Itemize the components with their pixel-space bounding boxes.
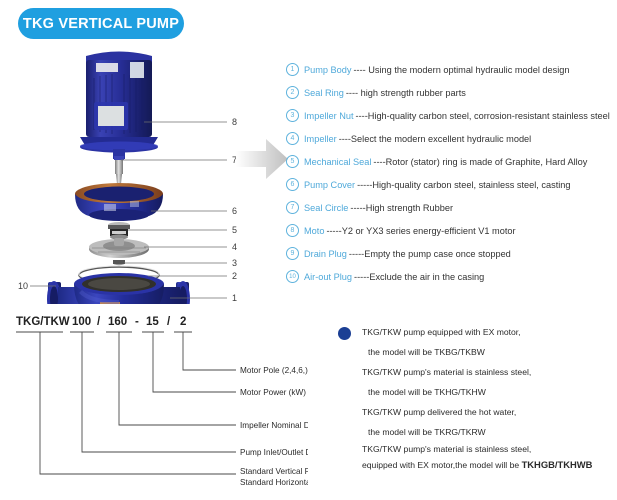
variant-line-4: the model will be TKHG/TKHW: [336, 382, 617, 402]
list-item: 2 Seal Ring ---- high strength rubber pa…: [286, 81, 617, 104]
list-number-4: 4: [286, 132, 299, 145]
variant-last-prefix: equipped with EX motor,the model will be: [362, 460, 522, 470]
model-token-7: 2: [180, 316, 186, 328]
mechanical-seal-part: [108, 222, 130, 240]
part-desc-4: ----Select the modern excellent hydrauli…: [339, 134, 532, 144]
svg-text:4: 4: [232, 242, 237, 252]
pump-cover-part: [75, 183, 163, 221]
part-name-9: Drain Plug: [304, 249, 347, 259]
part-name-2: Seal Ring: [304, 88, 344, 98]
part-desc-5: ----Rotor (stator) ring is made of Graph…: [373, 157, 587, 167]
svg-text:1: 1: [232, 293, 237, 303]
svg-text:10: 10: [18, 281, 28, 291]
variant-line-3: TKG/TKW pump's material is stainless ste…: [336, 362, 617, 382]
impeller-nut-part: [113, 260, 125, 265]
list-item: 7 Seal Circle -----High strength Rubber: [286, 196, 617, 219]
variant-line-5: TKG/TKW pump delivered the hot water,: [336, 402, 617, 422]
list-number-7: 7: [286, 201, 299, 214]
model-token-6: /: [167, 316, 171, 328]
motor-part: [80, 52, 158, 153]
variant-line-2: the model will be TKBG/TKBW: [336, 342, 617, 362]
variant-line-1: TKG/TKW pump equipped with EX motor,: [336, 322, 617, 342]
part-name-8: Moto: [304, 226, 324, 236]
list-item: 1 Pump Body ---- Using the modern optima…: [286, 58, 617, 81]
feature-list: 1 Pump Body ---- Using the modern optima…: [286, 58, 617, 288]
list-item: 5 Mechanical Seal ----Rotor (stator) rin…: [286, 150, 617, 173]
variant-line-6: the model will be TKRG/TKRW: [336, 422, 617, 442]
model-label-2: Impeller Nominal Diameter (mm): [240, 421, 308, 430]
svg-text:8: 8: [232, 117, 237, 127]
part-name-1: Pump Body: [304, 65, 352, 75]
part-desc-2: ---- high strength rubber parts: [346, 88, 466, 98]
model-token-4: -: [135, 316, 139, 328]
pump-body-part: [47, 273, 190, 304]
part-name-6: Pump Cover: [304, 180, 355, 190]
part-desc-3: ----High-quality carbon steel, corrosion…: [356, 111, 610, 121]
model-label-3: Pump Inlet/Outlet Diameter (mm): [240, 448, 308, 457]
svg-text:2: 2: [232, 271, 237, 281]
model-label-1: Motor Power (kW): [240, 388, 306, 397]
shaft-seal-circle-part: [113, 149, 125, 184]
model-leader-lines: [40, 332, 236, 474]
list-item: 3 Impeller Nut ----High-quality carbon s…: [286, 104, 617, 127]
list-number-6: 6: [286, 178, 299, 191]
variant-notes: TKG/TKW pump equipped with EX motor, the…: [336, 322, 617, 472]
variant-line-7: TKG/TKW pump's material is stainless ste…: [336, 442, 617, 457]
model-token-0: TKG/TKW: [16, 316, 70, 328]
model-code-tokens: TKG/TKW 100 / 160 - 15 / 2: [16, 316, 186, 328]
list-number-9: 9: [286, 247, 299, 260]
part-desc-6: -----High-quality carbon steel, stainles…: [357, 180, 570, 190]
model-label-0: Motor Pole (2,4,6,): [240, 366, 308, 375]
model-designation-diagram: TKG/TKW 100 / 160 - 15 / 2: [8, 312, 308, 492]
part-desc-8: -----Y2 or YX3 series energy-efficient V…: [326, 226, 515, 236]
svg-text:6: 6: [232, 206, 237, 216]
list-number-1: 1: [286, 63, 299, 76]
part-desc-9: -----Empty the pump case once stopped: [349, 249, 511, 259]
impeller-part: [89, 238, 149, 258]
svg-text:5: 5: [232, 225, 237, 235]
svg-text:3: 3: [232, 258, 237, 268]
list-number-5: 5: [286, 155, 299, 168]
page-title: TKG VERTICAL PUMP: [23, 16, 179, 32]
pump-exploded-diagram: 8 7 6 5 4 3 2 1 10 9: [18, 44, 258, 304]
part-name-4: Impeller: [304, 134, 337, 144]
variant-last-model: TKHGB/TKHWB: [522, 459, 593, 470]
list-item: 6 Pump Cover -----High-quality carbon st…: [286, 173, 617, 196]
page-title-banner: TKG VERTICAL PUMP: [18, 8, 184, 39]
model-token-3: 160: [108, 316, 127, 328]
list-item: 9 Drain Plug -----Empty the pump case on…: [286, 242, 617, 265]
model-label-5: Standard Horizontal Pump: [240, 478, 308, 487]
flow-arrow-icon: [236, 136, 288, 182]
model-token-1: 100: [72, 316, 91, 328]
part-name-5: Mechanical Seal: [304, 157, 371, 167]
variant-line-8: equipped with EX motor,the model will be…: [336, 457, 617, 472]
list-number-10: 10: [286, 270, 299, 283]
part-name-3: Impeller Nut: [304, 111, 354, 121]
list-item: 4 Impeller ----Select the modern excelle…: [286, 127, 617, 150]
part-name-7: Seal Circle: [304, 203, 348, 213]
page-root: TKG VERTICAL PUMP: [0, 0, 617, 500]
part-desc-1: ---- Using the modern optimal hydraulic …: [354, 65, 570, 75]
model-leader-labels: Motor Pole (2,4,6,) Motor Power (kW) Imp…: [240, 366, 308, 487]
part-desc-7: -----High strength Rubber: [350, 203, 453, 213]
bullet-dot-icon: [338, 327, 351, 340]
model-label-4: Standard Vertical Pump/: [240, 467, 308, 476]
part-name-10: Air-out Plug: [304, 272, 352, 282]
list-item: 10 Air-out Plug -----Exclude the air in …: [286, 265, 617, 288]
list-number-3: 3: [286, 109, 299, 122]
list-number-8: 8: [286, 224, 299, 237]
model-token-5: 15: [146, 316, 159, 328]
part-desc-10: -----Exclude the air in the casing: [354, 272, 484, 282]
list-number-2: 2: [286, 86, 299, 99]
list-item: 8 Moto -----Y2 or YX3 series energy-effi…: [286, 219, 617, 242]
model-token-2: /: [97, 316, 101, 328]
